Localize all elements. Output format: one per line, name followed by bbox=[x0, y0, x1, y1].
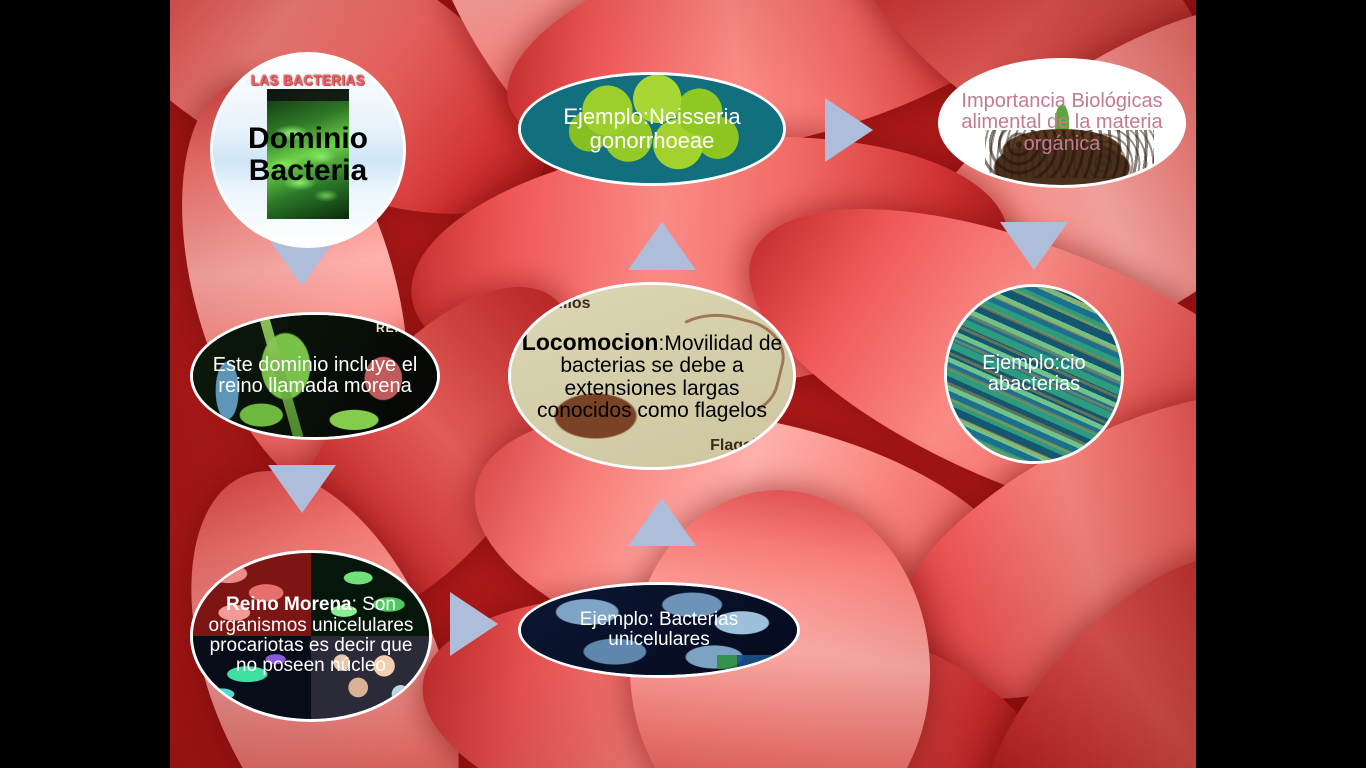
node-ejemplo-unicelulares[interactable]: Ejemplo: Bacterias unicelulares bbox=[518, 582, 800, 678]
node-locomocion-label-bold: Locomocion bbox=[522, 329, 659, 355]
node-ejemplo-neisseria-label: Ejemplo:Neisseria gonorrhoeae bbox=[521, 105, 783, 152]
slide-canvas: LAS BACTERIAS Dominio Bacteria Ejemplo:N… bbox=[170, 0, 1196, 768]
node-ejemplo-neisseria[interactable]: Ejemplo:Neisseria gonorrhoeae bbox=[518, 72, 786, 186]
flagelos-label: Flagelos bbox=[710, 437, 775, 455]
arrow-neisseria-to-importancia bbox=[825, 98, 873, 162]
cilios-label: Cilios bbox=[547, 295, 591, 313]
node-locomocion-text: Locomocion:Movilidad de bacterias se deb… bbox=[511, 330, 793, 423]
node-ejemplo-unicelulares-label: Ejemplo: Bacterias unicelulares bbox=[521, 610, 797, 651]
node-dominio-bacteria[interactable]: LAS BACTERIAS Dominio Bacteria bbox=[210, 52, 406, 248]
node-reino-morena-label-bold: Reino Morena bbox=[226, 594, 352, 615]
letterbox-right bbox=[1196, 0, 1366, 768]
arrow-importancia-to-cianobacterias bbox=[1000, 222, 1068, 270]
node-dominio-bacteria-label: Dominio Bacteria bbox=[213, 113, 403, 187]
reino-overlay-label: REINO bbox=[376, 321, 419, 335]
node-ejemplo-cianobacterias[interactable]: Ejemplo:cio abacterias bbox=[944, 284, 1124, 464]
letterbox-left bbox=[0, 0, 170, 768]
arrow-este-dominio-to-reino-morena bbox=[268, 465, 336, 513]
las-bacterias-caption: LAS BACTERIAS bbox=[221, 73, 396, 89]
arrow-locomocion-to-neisseria bbox=[628, 222, 696, 270]
node-este-dominio[interactable]: REINO Este dominio incluye el reino llam… bbox=[190, 312, 440, 440]
watermark-badge-icon bbox=[717, 655, 789, 669]
node-ejemplo-cianobacterias-label: Ejemplo:cio abacterias bbox=[947, 353, 1121, 396]
arrow-ejemplo-unicelulares-to-locomocion bbox=[628, 498, 696, 546]
node-este-dominio-label: Este dominio incluye el reino llamada mo… bbox=[193, 355, 437, 398]
node-reino-morena[interactable]: Reino Morena: Son organismos unicelulare… bbox=[190, 550, 432, 722]
slide-stage: LAS BACTERIAS Dominio Bacteria Ejemplo:N… bbox=[0, 0, 1366, 768]
node-reino-morena-text: Reino Morena: Son organismos unicelulare… bbox=[193, 595, 429, 676]
arrow-reino-morena-to-ejemplo-unicelulares bbox=[450, 592, 498, 656]
node-importancia-biologica-label: Importancia Biológicas alimental de la m… bbox=[941, 91, 1183, 155]
node-importancia-biologica[interactable]: Importancia Biológicas alimental de la m… bbox=[938, 58, 1186, 188]
node-locomocion[interactable]: Cilios Flagelos Locomocion:Movilidad de … bbox=[508, 282, 796, 470]
